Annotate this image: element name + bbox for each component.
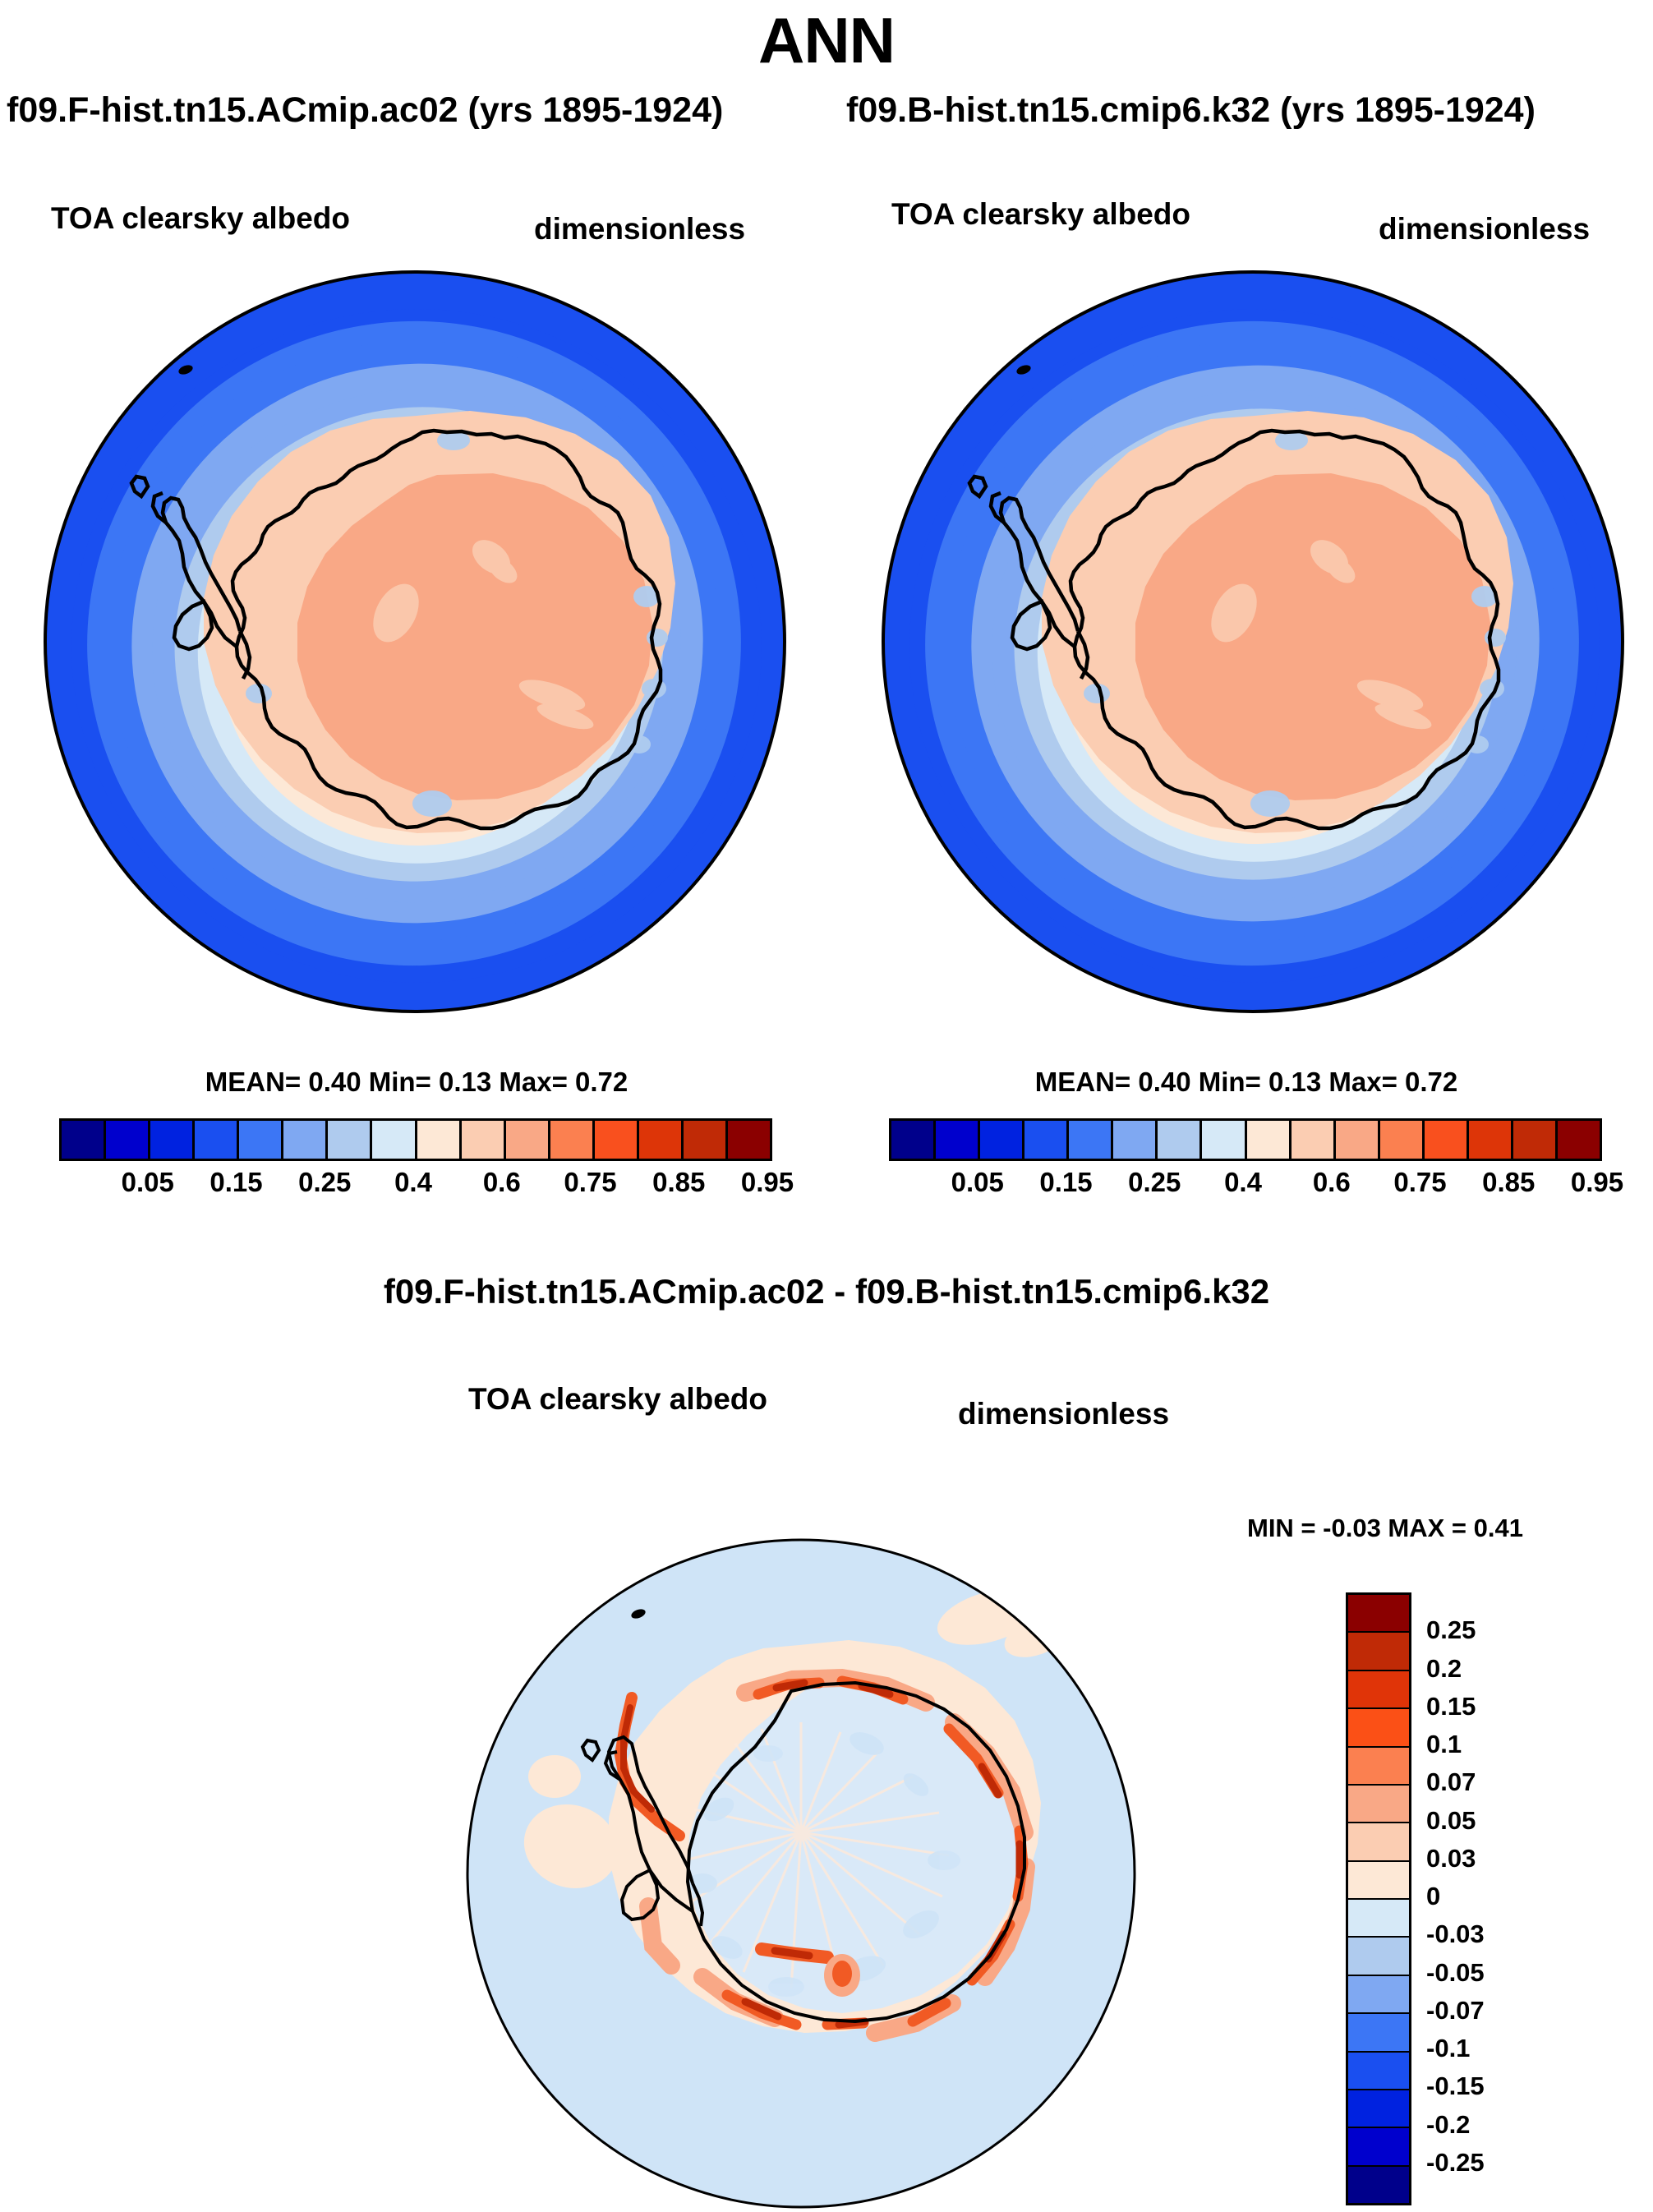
colorbar-cell — [1348, 2090, 1409, 2128]
colorbar-tick-label: 0.2 — [1426, 1654, 1462, 1684]
colorbar-tick-label: -0.15 — [1426, 2071, 1485, 2101]
right-colorbar — [889, 1118, 1602, 1161]
colorbar-tick-label: 0.75 — [1393, 1167, 1446, 1198]
colorbar-cell — [150, 1121, 195, 1159]
colorbar-cell — [195, 1121, 239, 1159]
left-map-graphic — [43, 270, 787, 1014]
colorbar-tick-label: 0.25 — [1426, 1615, 1476, 1645]
colorbar-tick-label: 0.05 — [1426, 1806, 1476, 1836]
colorbar-tick-label: 0.07 — [1426, 1767, 1476, 1797]
diff-colorbar — [1346, 1592, 1411, 2205]
diff-colorbar-ticks: 0.250.20.150.10.070.050.030-0.03-0.05-0.… — [1426, 1592, 1574, 2200]
right-stats: MEAN= 0.40 Min= 0.13 Max= 0.72 — [889, 1067, 1604, 1098]
colorbar-tick-label: -0.03 — [1426, 1919, 1485, 1949]
colorbar-cell — [106, 1121, 150, 1159]
left-field-label: TOA clearsky albedo — [51, 201, 350, 236]
colorbar-tick-label: 0.6 — [1313, 1167, 1351, 1198]
colorbar-cell — [1348, 1748, 1409, 1786]
colorbar-tick-label: 0.05 — [951, 1167, 1004, 1198]
colorbar-cell — [1336, 1121, 1380, 1159]
colorbar-cell — [1348, 1633, 1409, 1671]
colorbar-cell — [1024, 1121, 1069, 1159]
colorbar-tick-label: 0.15 — [1426, 1692, 1476, 1721]
colorbar-tick-label: -0.25 — [1426, 2148, 1485, 2177]
colorbar-cell — [980, 1121, 1024, 1159]
colorbar-cell — [595, 1121, 639, 1159]
left-case-title: f09.F-hist.tn15.ACmip.ac02 (yrs 1895-192… — [7, 90, 723, 131]
colorbar-tick-label: 0.75 — [564, 1167, 616, 1198]
colorbar-cell — [1348, 2167, 1409, 2203]
colorbar-cell — [1348, 1671, 1409, 1709]
colorbar-cell — [1380, 1121, 1425, 1159]
colorbar-cell — [1292, 1121, 1336, 1159]
left-colorbar-ticks: 0.050.150.250.40.60.750.850.95 — [59, 1167, 772, 1205]
colorbar-cell — [328, 1121, 372, 1159]
colorbar-tick-label: 0.85 — [1482, 1167, 1535, 1198]
diff-map-graphic — [456, 1538, 1146, 2210]
colorbar-cell — [684, 1121, 728, 1159]
colorbar-cell — [1113, 1121, 1158, 1159]
colorbar-tick-label: 0.85 — [652, 1167, 705, 1198]
colorbar-tick-label: 0.03 — [1426, 1844, 1476, 1873]
colorbar-cell — [1513, 1121, 1558, 1159]
colorbar-tick-label: 0 — [1426, 1882, 1440, 1911]
colorbar-cell — [1348, 2053, 1409, 2090]
colorbar-cell — [1558, 1121, 1600, 1159]
left-stats: MEAN= 0.40 Min= 0.13 Max= 0.72 — [59, 1067, 774, 1098]
colorbar-tick-label: 0.15 — [210, 1167, 262, 1198]
colorbar-tick-label: -0.1 — [1426, 2034, 1470, 2063]
colorbar-tick-label: 0.4 — [1224, 1167, 1262, 1198]
colorbar-cell — [1348, 1938, 1409, 1975]
colorbar-cell — [462, 1121, 506, 1159]
colorbar-cell — [1348, 1862, 1409, 1900]
colorbar-tick-label: 0.95 — [1571, 1167, 1623, 1198]
colorbar-cell — [639, 1121, 684, 1159]
colorbar-cell — [1202, 1121, 1246, 1159]
right-colorbar-ticks: 0.050.150.250.40.60.750.850.95 — [889, 1167, 1602, 1205]
colorbar-tick-label: 0.05 — [122, 1167, 174, 1198]
left-colorbar — [59, 1118, 772, 1161]
diff-case-title: f09.F-hist.tn15.ACmip.ac02 - f09.B-hist.… — [0, 1272, 1653, 1311]
right-map-graphic — [881, 270, 1625, 1014]
colorbar-cell — [239, 1121, 283, 1159]
colorbar-cell — [1348, 1823, 1409, 1861]
left-units-label: dimensionless — [534, 212, 745, 247]
diff-units-label: dimensionless — [958, 1397, 1169, 1431]
colorbar-tick-label: 0.95 — [741, 1167, 794, 1198]
colorbar-tick-label: 0.4 — [394, 1167, 432, 1198]
colorbar-cell — [1425, 1121, 1469, 1159]
colorbar-cell — [283, 1121, 328, 1159]
colorbar-tick-label: 0.1 — [1426, 1730, 1462, 1759]
colorbar-cell — [1348, 2128, 1409, 2166]
colorbar-cell — [1348, 2014, 1409, 2052]
colorbar-tick-label: -0.05 — [1426, 1958, 1485, 1988]
right-units-label: dimensionless — [1379, 212, 1590, 247]
colorbar-cell — [1247, 1121, 1292, 1159]
colorbar-cell — [936, 1121, 980, 1159]
right-case-title: f09.B-hist.tn15.cmip6.k32 (yrs 1895-1924… — [846, 90, 1536, 131]
right-polar-map — [881, 270, 1625, 1014]
contour-bands — [44, 270, 786, 1013]
left-polar-map — [43, 270, 787, 1014]
colorbar-tick-label: 0.25 — [1128, 1167, 1181, 1198]
colorbar-cell — [1348, 1900, 1409, 1938]
colorbar-cell — [506, 1121, 550, 1159]
colorbar-cell — [728, 1121, 770, 1159]
colorbar-cell — [550, 1121, 595, 1159]
colorbar-cell — [1348, 1976, 1409, 2014]
colorbar-cell — [1348, 1709, 1409, 1747]
colorbar-tick-label: -0.07 — [1426, 1996, 1485, 2025]
colorbar-cell — [891, 1121, 936, 1159]
right-field-label: TOA clearsky albedo — [891, 197, 1190, 232]
colorbar-cell — [1469, 1121, 1513, 1159]
page-title: ANN — [0, 3, 1653, 78]
colorbar-tick-label: -0.2 — [1426, 2110, 1470, 2140]
contour-bands — [882, 270, 1624, 1013]
colorbar-tick-label: 0.25 — [298, 1167, 351, 1198]
colorbar-cell — [1348, 1595, 1409, 1633]
colorbar-tick-label: 0.6 — [483, 1167, 521, 1198]
diff-polar-map — [456, 1538, 1146, 2210]
diff-field-label: TOA clearsky albedo — [468, 1382, 767, 1417]
colorbar-cell — [417, 1121, 462, 1159]
diff-minmax: MIN = -0.03 MAX = 0.41 — [1247, 1514, 1523, 1543]
colorbar-tick-label: 0.15 — [1039, 1167, 1092, 1198]
colorbar-cell — [62, 1121, 106, 1159]
colorbar-cell — [1069, 1121, 1113, 1159]
colorbar-cell — [1348, 1786, 1409, 1823]
colorbar-cell — [372, 1121, 417, 1159]
colorbar-cell — [1158, 1121, 1202, 1159]
